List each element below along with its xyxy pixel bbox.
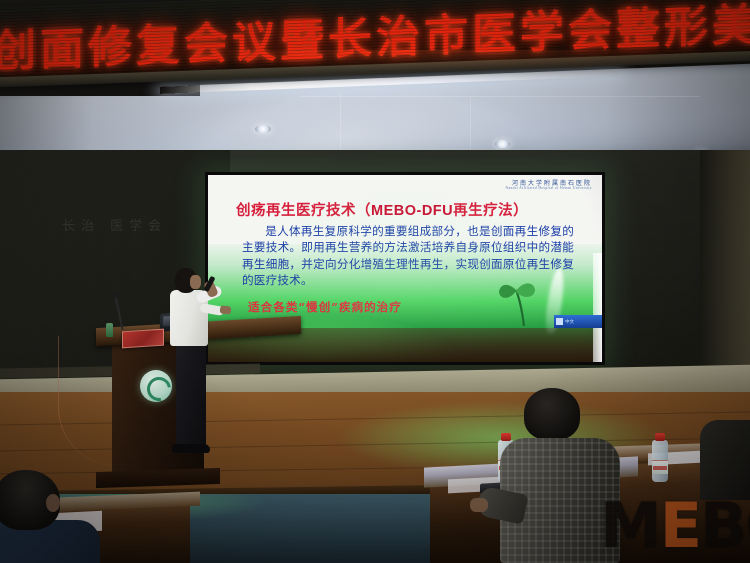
water-bottle [652, 440, 668, 482]
slide-taskbar: 中文 [554, 315, 602, 328]
taskbar-ime-icon [556, 318, 563, 325]
watermark-prefix: M [600, 489, 660, 562]
microphone-icon [110, 292, 119, 298]
downlight-icon [495, 140, 510, 148]
bottle-label [652, 460, 668, 474]
audience-center-hand [470, 498, 488, 512]
watermark: MEBO [600, 495, 750, 557]
red-nameplate [122, 329, 164, 349]
speaker-shoes [172, 444, 210, 453]
slide-title-en: MEBO-DFU [371, 203, 453, 219]
conference-photo: 创面修复会议暨长治市医学会整形美容专业委 长治 医学会 河南大学附属南石医院 N… [0, 0, 750, 563]
bottle-cap [655, 433, 665, 441]
audience-right-silhouette [700, 420, 750, 500]
watermark-suffix: BO [700, 489, 750, 562]
wall-faint-text: 长治 医学会 [62, 215, 167, 234]
watermark-accent: E [660, 489, 700, 562]
audience-center-head [524, 388, 580, 440]
slide-title-prefix: 创疡再生医疗技术（ [236, 202, 371, 219]
green-bottle [106, 323, 113, 337]
slide-title-suffix: 再生疗法） [453, 202, 528, 219]
hospital-logo: 河南大学附属南石医院 Nanshi Affiliated Hospital of… [505, 181, 592, 191]
slide-highlight-text: 适合各类“慢创”疾病的治疗 [248, 299, 402, 315]
slide-title: 创疡再生医疗技术（MEBO-DFU再生疗法） [236, 199, 581, 220]
speaker-legs [176, 342, 206, 448]
slide-body-text: 是人体再生复原科学的重要组成部分，也是创面再生修复的主要技术。即用再生营养的方法… [242, 223, 574, 289]
taskbar-label: 中文 [565, 319, 574, 325]
hospital-logo-en: Nanshi Affiliated Hospital of Henan Univ… [505, 187, 592, 191]
ceiling-seam [300, 96, 700, 97]
bottle-cap [501, 433, 511, 441]
slide-right-strip [593, 253, 602, 362]
wall-right-edge [700, 150, 750, 400]
hospital-emblem-icon [140, 370, 172, 402]
audience-left-ear [46, 494, 60, 512]
speaker-hand [220, 305, 232, 314]
speaker-face [190, 275, 201, 289]
downlight-icon [255, 125, 271, 133]
